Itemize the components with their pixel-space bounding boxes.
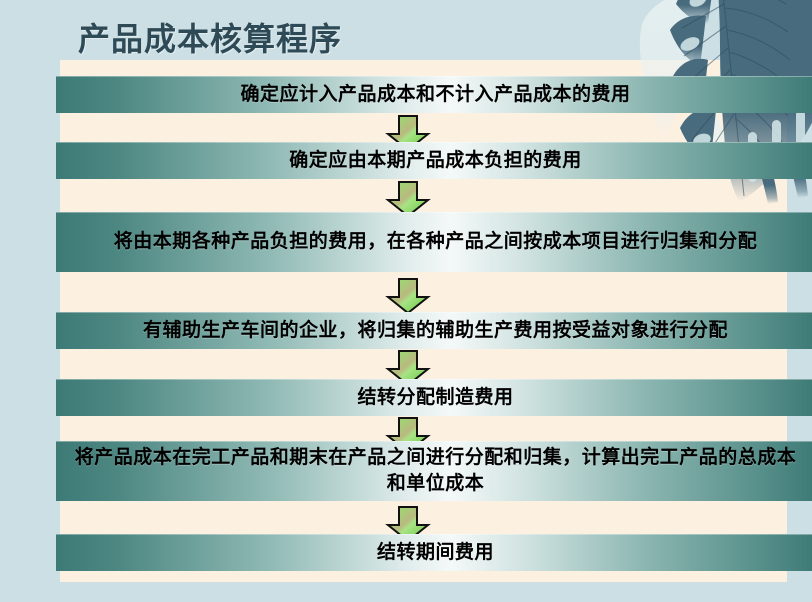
process-step-3[interactable]: 将由本期各种产品负担的费用，在各种产品之间按成本项目进行归集和分配 [56, 212, 812, 272]
process-step-6-label: 将产品成本在完工产品和期末在产品之间进行分配和归集，计算出完工产品的总成本和单位… [66, 445, 805, 497]
slide-canvas: 产品成本核算程序 确定应计入产品成本和不计入产品成本的费用 [0, 0, 812, 602]
process-step-5-label: 结转分配制造费用 [66, 385, 805, 411]
process-step-1-label: 确定应计入产品成本和不计入产品成本的费用 [66, 82, 805, 108]
process-step-7-label: 结转期间费用 [66, 540, 805, 566]
process-step-2[interactable]: 确定应由本期产品成本负担的费用 [56, 142, 812, 179]
process-step-3-label: 将由本期各种产品负担的费用，在各种产品之间按成本项目进行归集和分配 [66, 229, 805, 255]
process-step-4-label: 有辅助生产车间的企业，将归集的辅助生产费用按受益对象进行分配 [66, 318, 805, 344]
process-flow: 确定应计入产品成本和不计入产品成本的费用 确定应由本期产品成本负担的费用 [28, 0, 787, 602]
down-arrow-icon-3 [385, 277, 431, 315]
process-step-7[interactable]: 结转期间费用 [56, 534, 812, 571]
process-step-2-label: 确定应由本期产品成本负担的费用 [66, 148, 805, 174]
process-step-5[interactable]: 结转分配制造费用 [56, 379, 812, 416]
process-step-1[interactable]: 确定应计入产品成本和不计入产品成本的费用 [56, 76, 812, 113]
process-step-4[interactable]: 有辅助生产车间的企业，将归集的辅助生产费用按受益对象进行分配 [56, 312, 812, 349]
process-step-6[interactable]: 将产品成本在完工产品和期末在产品之间进行分配和归集，计算出完工产品的总成本和单位… [56, 441, 812, 501]
